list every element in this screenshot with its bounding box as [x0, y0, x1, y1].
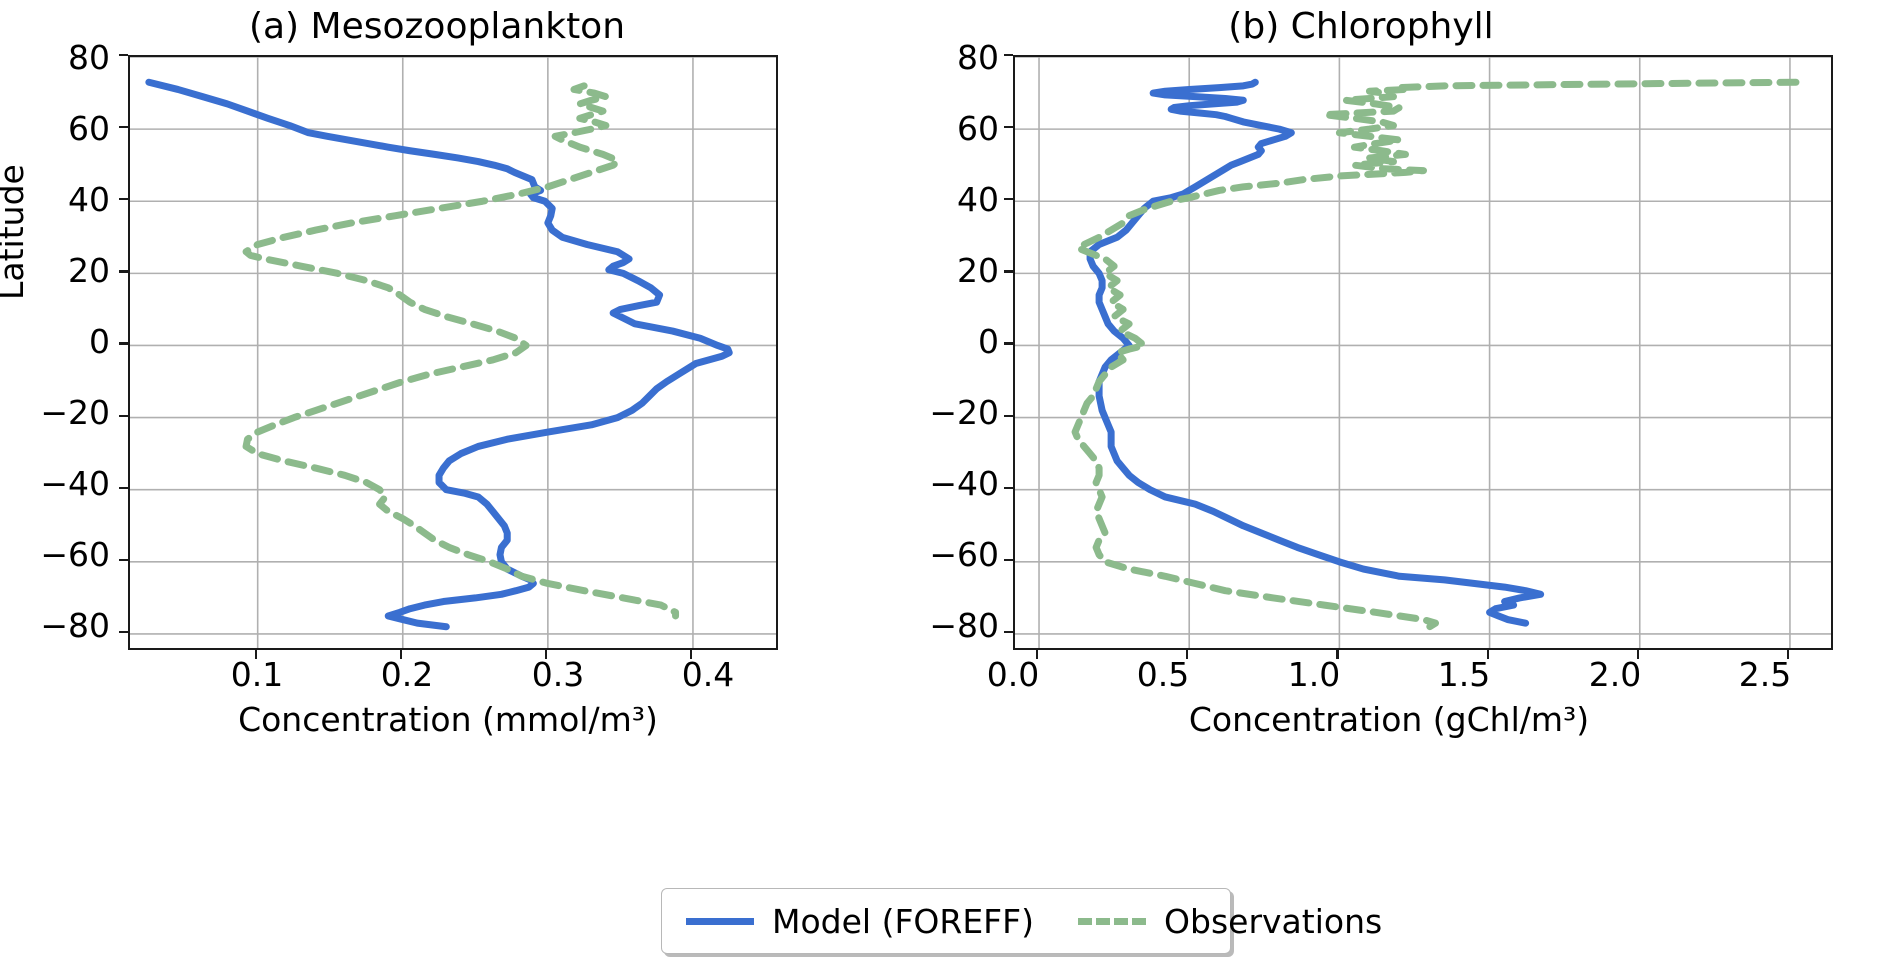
tick-mark: [1336, 650, 1338, 659]
panel-a-title: (a) Mesozooplankton: [0, 6, 910, 47]
panel-b-series-0: [1090, 82, 1541, 623]
panel-a-ytick-40: 40: [22, 180, 110, 219]
panel-a-xtick-0p4: 0.4: [668, 655, 748, 694]
panel-mesozooplankton: (a) Mesozooplankton Latitude 80 60 40 20…: [0, 0, 946, 760]
tick-mark: [1004, 198, 1013, 200]
dashed-line-icon: [1078, 918, 1146, 925]
tick-mark: [119, 415, 128, 417]
tick-mark: [119, 126, 128, 128]
panel-b-ytick-80: 80: [911, 38, 999, 77]
tick-mark: [1186, 650, 1188, 659]
panel-b-ytick-20: 20: [911, 251, 999, 290]
panel-a-xtick-0p1: 0.1: [217, 655, 297, 694]
panel-a-ytick-m20: −20: [2, 393, 110, 432]
tick-mark: [119, 487, 128, 489]
panel-a-ytick-60: 60: [22, 109, 110, 148]
tick-mark: [1004, 559, 1013, 561]
tick-mark: [1004, 342, 1013, 344]
panel-chlorophyll: (b) Chlorophyll 80 60 40 20 0 −20 −40 −6…: [946, 0, 1892, 760]
tick-mark: [119, 559, 128, 561]
panel-b-xtick-0p5: 0.5: [1115, 655, 1211, 694]
panel-a-xtick-0p2: 0.2: [367, 655, 447, 694]
panel-b-xlabel: Concentration (gChl/m³): [1059, 700, 1719, 739]
panel-b-ytick-m20: −20: [891, 393, 999, 432]
tick-mark: [690, 650, 692, 659]
solid-line-icon: [686, 918, 754, 925]
panel-b-ytick-40: 40: [911, 180, 999, 219]
panel-a-ytick-80: 80: [22, 38, 110, 77]
panel-b-xtick-2p0: 2.0: [1567, 655, 1663, 694]
tick-mark: [400, 650, 402, 659]
panel-a-ytick-m40: −40: [2, 464, 110, 503]
panel-b-ytick-m80: −80: [891, 606, 999, 645]
tick-mark: [119, 342, 128, 344]
tick-mark: [119, 54, 128, 56]
tick-mark: [1004, 270, 1013, 272]
tick-mark: [1487, 650, 1489, 659]
panel-a-ytick-0: 0: [22, 322, 110, 361]
tick-mark: [255, 650, 257, 659]
panel-b-ytick-m40: −40: [891, 464, 999, 503]
tick-mark: [1004, 631, 1013, 633]
tick-mark: [1637, 650, 1639, 659]
panel-a-series-1: [246, 86, 675, 616]
panel-b-axes: [1013, 55, 1833, 650]
tick-mark: [1004, 415, 1013, 417]
panel-b-ytick-m60: −60: [891, 535, 999, 574]
panel-b-series-1: [1075, 82, 1796, 627]
panel-b-xtick-2p5: 2.5: [1717, 655, 1813, 694]
tick-mark: [1036, 650, 1038, 659]
figure-root: (a) Mesozooplankton Latitude 80 60 40 20…: [0, 0, 1892, 979]
tick-mark: [1004, 126, 1013, 128]
panel-b-ytick-60: 60: [911, 109, 999, 148]
tick-mark: [545, 650, 547, 659]
panel-a-ytick-m80: −80: [2, 606, 110, 645]
panel-a-xtick-0p3: 0.3: [518, 655, 598, 694]
tick-mark: [1004, 54, 1013, 56]
tick-mark: [119, 631, 128, 633]
panel-b-xtick-1p5: 1.5: [1416, 655, 1512, 694]
tick-mark: [119, 198, 128, 200]
legend-label-model: Model (FOREFF): [772, 902, 1034, 941]
panel-b-ytick-0: 0: [911, 322, 999, 361]
legend-item-model: Model (FOREFF): [686, 902, 1034, 941]
legend-item-observations: Observations: [1078, 902, 1382, 941]
tick-mark: [1004, 487, 1013, 489]
panel-b-xtick-1p0: 1.0: [1266, 655, 1362, 694]
panel-a-plot-area: [130, 57, 778, 650]
panel-b-xtick-0p0: 0.0: [965, 655, 1061, 694]
tick-mark: [1787, 650, 1789, 659]
panel-a-axes: [128, 55, 778, 650]
panel-b-title: (b) Chlorophyll: [888, 6, 1834, 47]
panel-a-xlabel: Concentration (mmol/m³): [118, 700, 778, 739]
legend: Model (FOREFF) Observations: [661, 888, 1231, 954]
panel-b-plot-area: [1015, 57, 1833, 650]
legend-label-observations: Observations: [1164, 902, 1382, 941]
panel-a-ytick-m60: −60: [2, 535, 110, 574]
panel-a-ytick-20: 20: [22, 251, 110, 290]
tick-mark: [119, 270, 128, 272]
